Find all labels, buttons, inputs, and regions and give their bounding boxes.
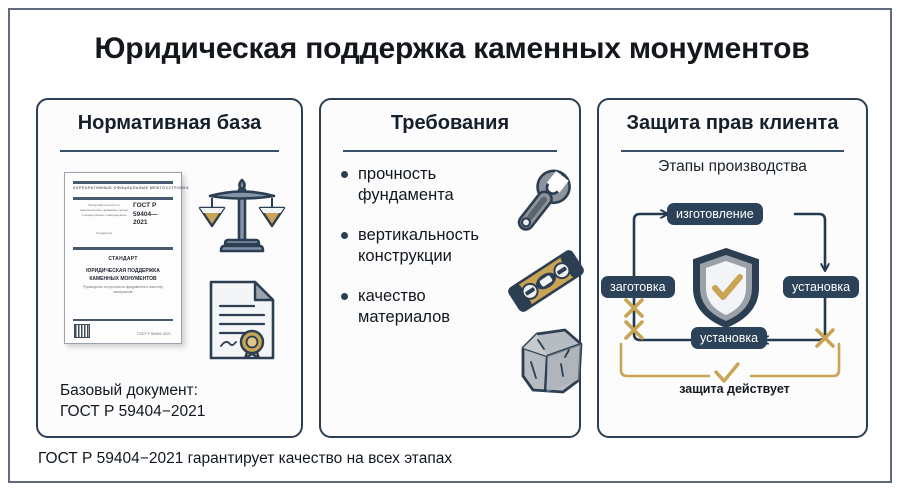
list-item: вертикальность конструкции: [339, 225, 509, 267]
certificate-icon: [201, 276, 285, 364]
shield-check-icon: [689, 246, 763, 330]
panel-client-rights-heading: Защита прав клиента: [599, 112, 866, 135]
panel-requirements: Требования прочность фундамента вертикал…: [319, 98, 581, 438]
divider: [343, 150, 557, 152]
panel-client-rights: Защита прав клиента Этапы производства: [597, 98, 868, 438]
scales-of-justice-icon: [198, 172, 286, 264]
requirement-line-1: прочность фундамента: [358, 165, 454, 204]
panel-requirements-heading: Требования: [321, 112, 579, 135]
document-standard-word: СТАНДАРТ: [73, 256, 173, 262]
flow-node-blank[interactable]: заготовка: [601, 276, 675, 298]
flow-node-installation-bottom[interactable]: установка: [691, 327, 767, 349]
requirement-line-3: качество материалов: [358, 287, 450, 326]
document-footer-code: ГОСТ Р 59404−2021: [137, 332, 171, 336]
production-stages-subheading: Этапы производства: [599, 158, 866, 176]
production-flow-diagram: изготовление заготовка установка установ…: [599, 184, 870, 434]
flow-node-manufacturing[interactable]: изготовление: [667, 203, 763, 225]
gost-document-cover: КОРПОРАТИВНЫЕ ОФИЦИАЛЬНЫЕ МЕЖГОССТРОЙКА …: [64, 172, 182, 344]
document-standard-title: ЮРИДИЧЕСКАЯ ПОДДЕРЖКА КАМЕННЫХ МОНУМЕНТО…: [73, 268, 173, 283]
protection-active-caption: защита действует: [599, 382, 870, 396]
footer-text: ГОСТ Р 59404−2021 гарантирует качество н…: [38, 450, 866, 468]
outer-frame: Юридическая поддержка каменных монументо…: [8, 8, 892, 483]
base-document-footer: Базовый документ: ГОСТ Р 59404−2021: [60, 380, 205, 422]
requirement-line-2: вертикальность конструкции: [358, 226, 479, 265]
panel-row: Нормативная база КОРПОРАТИВНЫЕ ОФИЦИАЛЬН…: [28, 98, 876, 366]
base-document-value: ГОСТ Р 59404−2021: [60, 401, 205, 422]
content-area: Юридическая поддержка каменных монументо…: [28, 26, 876, 469]
stone-block-icon: [511, 324, 591, 400]
check-mark-icon: [716, 364, 738, 381]
base-document-label: Базовый документ:: [60, 380, 205, 401]
document-left-block: Представительство по национальному право…: [79, 203, 129, 218]
list-item: прочность фундамента: [339, 164, 509, 206]
footer-area: ГОСТ Р 59404−2021 гарантирует качество н…: [38, 450, 866, 468]
document-standard-subtitle: Руководство по прочности фундамента и ка…: [77, 285, 169, 295]
requirements-list: прочность фундамента вертикальность конс…: [339, 164, 509, 347]
document-left-block-sub: Стандартно: [79, 231, 129, 236]
panel-normative-heading: Нормативная база: [38, 112, 301, 135]
document-gost-code: ГОСТ Р 59404— 2021: [133, 202, 169, 228]
panel-normative-base: Нормативная база КОРПОРАТИВНЫЕ ОФИЦИАЛЬН…: [36, 98, 303, 438]
spirit-level-icon: [507, 242, 585, 320]
list-item: качество материалов: [339, 286, 509, 328]
document-publisher: КОРПОРАТИВНЫЕ ОФИЦИАЛЬНЫЕ МЕЖГОССТРОЙКА: [73, 186, 173, 190]
barcode-icon: [74, 324, 90, 338]
page-title: Юридическая поддержка каменных монументо…: [28, 32, 876, 66]
divider: [60, 150, 279, 152]
flow-node-installation-right[interactable]: установка: [783, 276, 859, 298]
divider: [621, 150, 844, 152]
wrench-icon: [511, 166, 581, 244]
